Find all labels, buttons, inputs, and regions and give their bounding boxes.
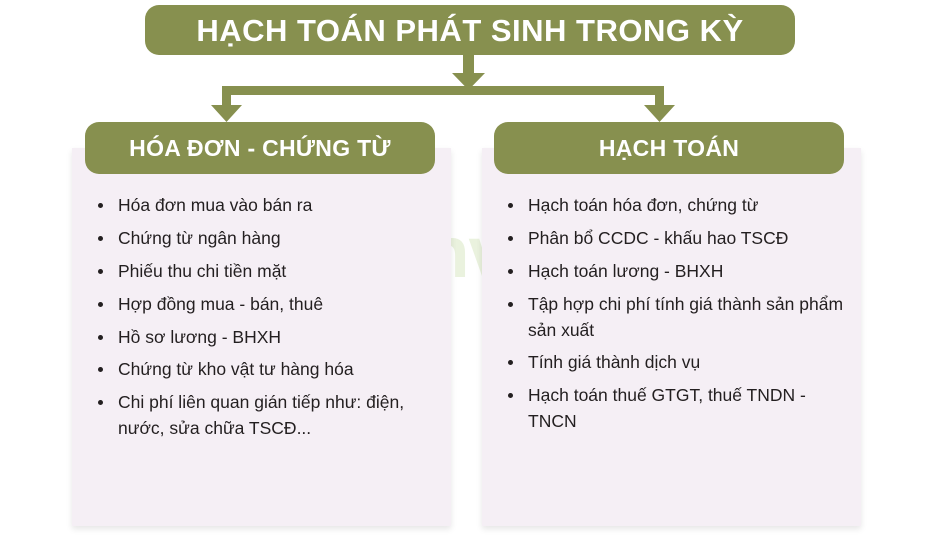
list-item-label: Hóa đơn mua vào bán ra bbox=[118, 195, 312, 215]
diagram-title-text: HẠCH TOÁN PHÁT SINH TRONG KỲ bbox=[196, 15, 743, 46]
list-item: Phiếu thu chi tiền mặt bbox=[92, 259, 442, 285]
bullet-dot-icon bbox=[98, 203, 103, 208]
list-item: Chứng từ ngân hàng bbox=[92, 226, 442, 252]
list-item-label: Phiếu thu chi tiền mặt bbox=[118, 261, 286, 281]
list-item: Hóa đơn mua vào bán ra bbox=[92, 193, 442, 219]
list-item-label: Tập hợp chi phí tính giá thành sản phẩm … bbox=[528, 294, 843, 340]
list-item-label: Hạch toán lương - BHXH bbox=[528, 261, 723, 281]
column-header-text: HÓA ĐƠN - CHỨNG TỪ bbox=[129, 137, 391, 160]
bullet-dot-icon bbox=[98, 335, 103, 340]
list-item-label: Hạch toán thuế GTGT, thuế TNDN - TNCN bbox=[528, 385, 806, 431]
column-header-invoices-documents: HÓA ĐƠN - CHỨNG TỪ bbox=[85, 122, 435, 174]
bullet-dot-icon bbox=[98, 269, 103, 274]
bullet-list-accounting: Hạch toán hóa đơn, chứng từPhân bổ CCDC … bbox=[502, 193, 852, 442]
diagram-canvas: ketoanvietthang HẠCH TOÁN PHÁT SINH TRON… bbox=[0, 0, 940, 538]
list-item-label: Hạch toán hóa đơn, chứng từ bbox=[528, 195, 758, 215]
list-item-label: Hồ sơ lương - BHXH bbox=[118, 327, 281, 347]
list-item: Hạch toán thuế GTGT, thuế TNDN - TNCN bbox=[502, 383, 852, 435]
list-item: Hồ sơ lương - BHXH bbox=[92, 325, 442, 351]
list-item-label: Phân bổ CCDC - khấu hao TSCĐ bbox=[528, 228, 788, 248]
bullet-dot-icon bbox=[98, 302, 103, 307]
list-item: Chứng từ kho vật tư hàng hóa bbox=[92, 357, 442, 383]
bullet-dot-icon bbox=[508, 236, 513, 241]
bullet-dot-icon bbox=[508, 302, 513, 307]
list-item: Phân bổ CCDC - khấu hao TSCĐ bbox=[502, 226, 852, 252]
list-item-label: Chứng từ kho vật tư hàng hóa bbox=[118, 359, 354, 379]
bullet-dot-icon bbox=[508, 360, 513, 365]
diagram-title-banner: HẠCH TOÁN PHÁT SINH TRONG KỲ bbox=[145, 5, 795, 55]
list-item: Hạch toán hóa đơn, chứng từ bbox=[502, 193, 852, 219]
bullet-dot-icon bbox=[508, 393, 513, 398]
column-header-accounting: HẠCH TOÁN bbox=[494, 122, 844, 174]
bullet-dot-icon bbox=[508, 203, 513, 208]
list-item-label: Chứng từ ngân hàng bbox=[118, 228, 281, 248]
connector-bus-bar bbox=[222, 86, 664, 95]
list-item-label: Hợp đồng mua - bán, thuê bbox=[118, 294, 323, 314]
column-header-text: HẠCH TOÁN bbox=[599, 137, 739, 160]
branch-right-down-arrow-icon bbox=[644, 86, 675, 122]
list-item: Tập hợp chi phí tính giá thành sản phẩm … bbox=[502, 292, 852, 344]
list-item: Tính giá thành dịch vụ bbox=[502, 350, 852, 376]
bullet-list-invoices-documents: Hóa đơn mua vào bán raChứng từ ngân hàng… bbox=[92, 193, 442, 449]
list-item-label: Tính giá thành dịch vụ bbox=[528, 352, 700, 372]
list-item: Hạch toán lương - BHXH bbox=[502, 259, 852, 285]
list-item-label: Chi phí liên quan gián tiếp như: điện, n… bbox=[118, 392, 404, 438]
trunk-down-arrow-icon bbox=[452, 55, 485, 90]
branch-left-down-arrow-icon bbox=[211, 86, 242, 122]
list-item: Chi phí liên quan gián tiếp như: điện, n… bbox=[92, 390, 442, 442]
bullet-dot-icon bbox=[98, 236, 103, 241]
bullet-dot-icon bbox=[98, 367, 103, 372]
bullet-dot-icon bbox=[98, 400, 103, 405]
bullet-dot-icon bbox=[508, 269, 513, 274]
list-item: Hợp đồng mua - bán, thuê bbox=[92, 292, 442, 318]
